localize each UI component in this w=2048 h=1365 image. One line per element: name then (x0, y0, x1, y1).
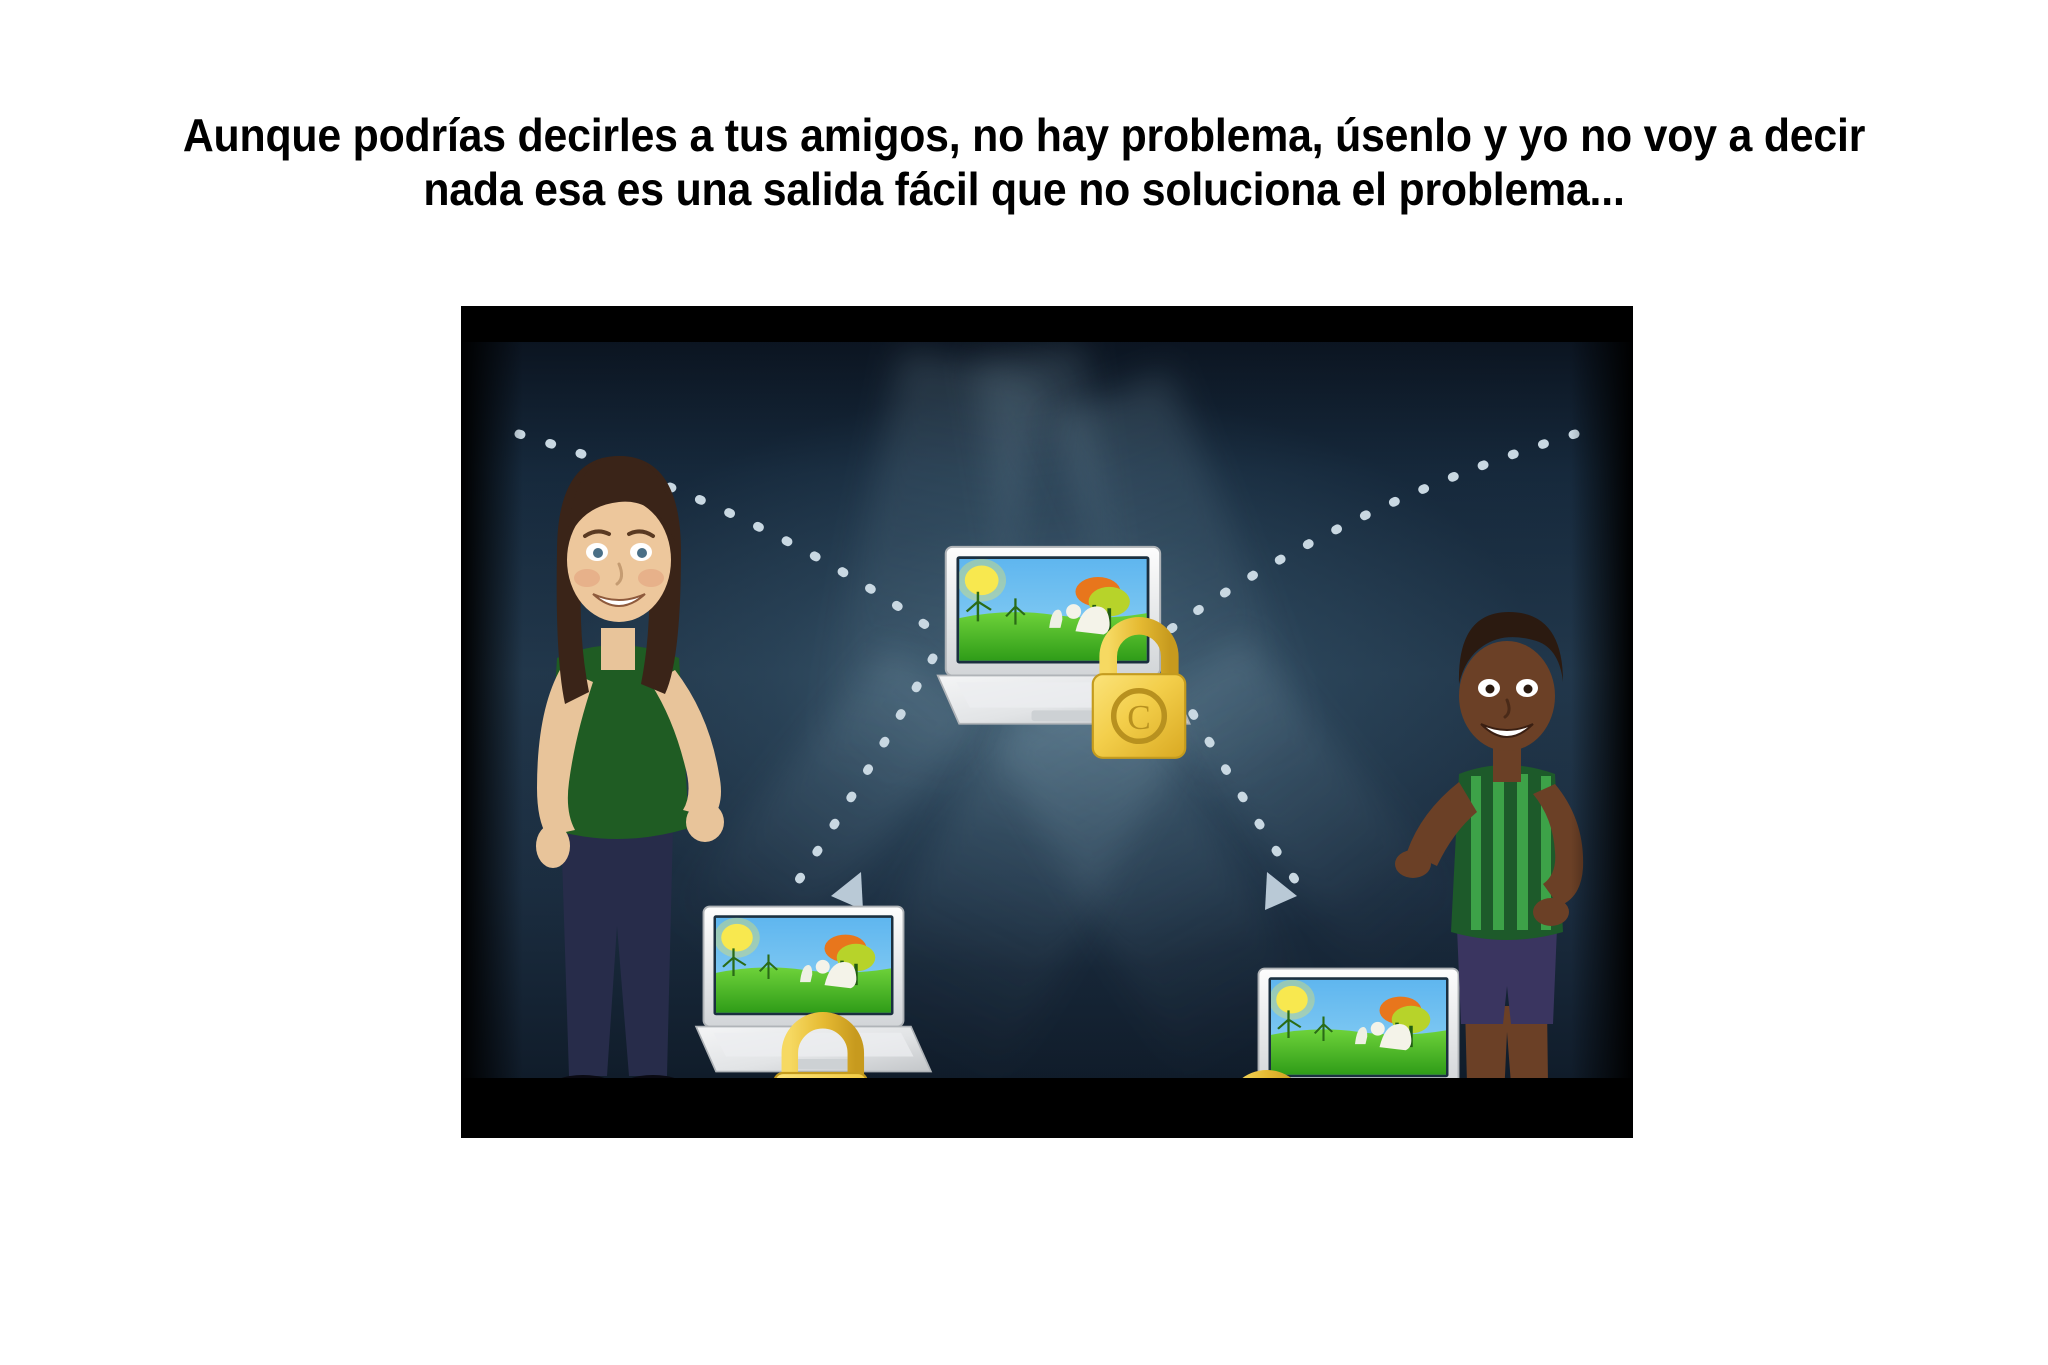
connector-arrow-right-up (1161, 434, 1575, 636)
connector-arrow-to-left-laptop (787, 658, 933, 910)
illustration-scene: C C (461, 306, 1633, 1138)
character-woman-left (536, 456, 724, 1101)
frame-letterbox-top (461, 306, 1633, 342)
illustration-frame: C C (461, 306, 1633, 1138)
left-laptop (696, 907, 931, 1072)
frame-letterbox-bottom (461, 1078, 1633, 1138)
slide-title: Aunque podrías decirles a tus amigos, no… (72, 108, 1977, 217)
